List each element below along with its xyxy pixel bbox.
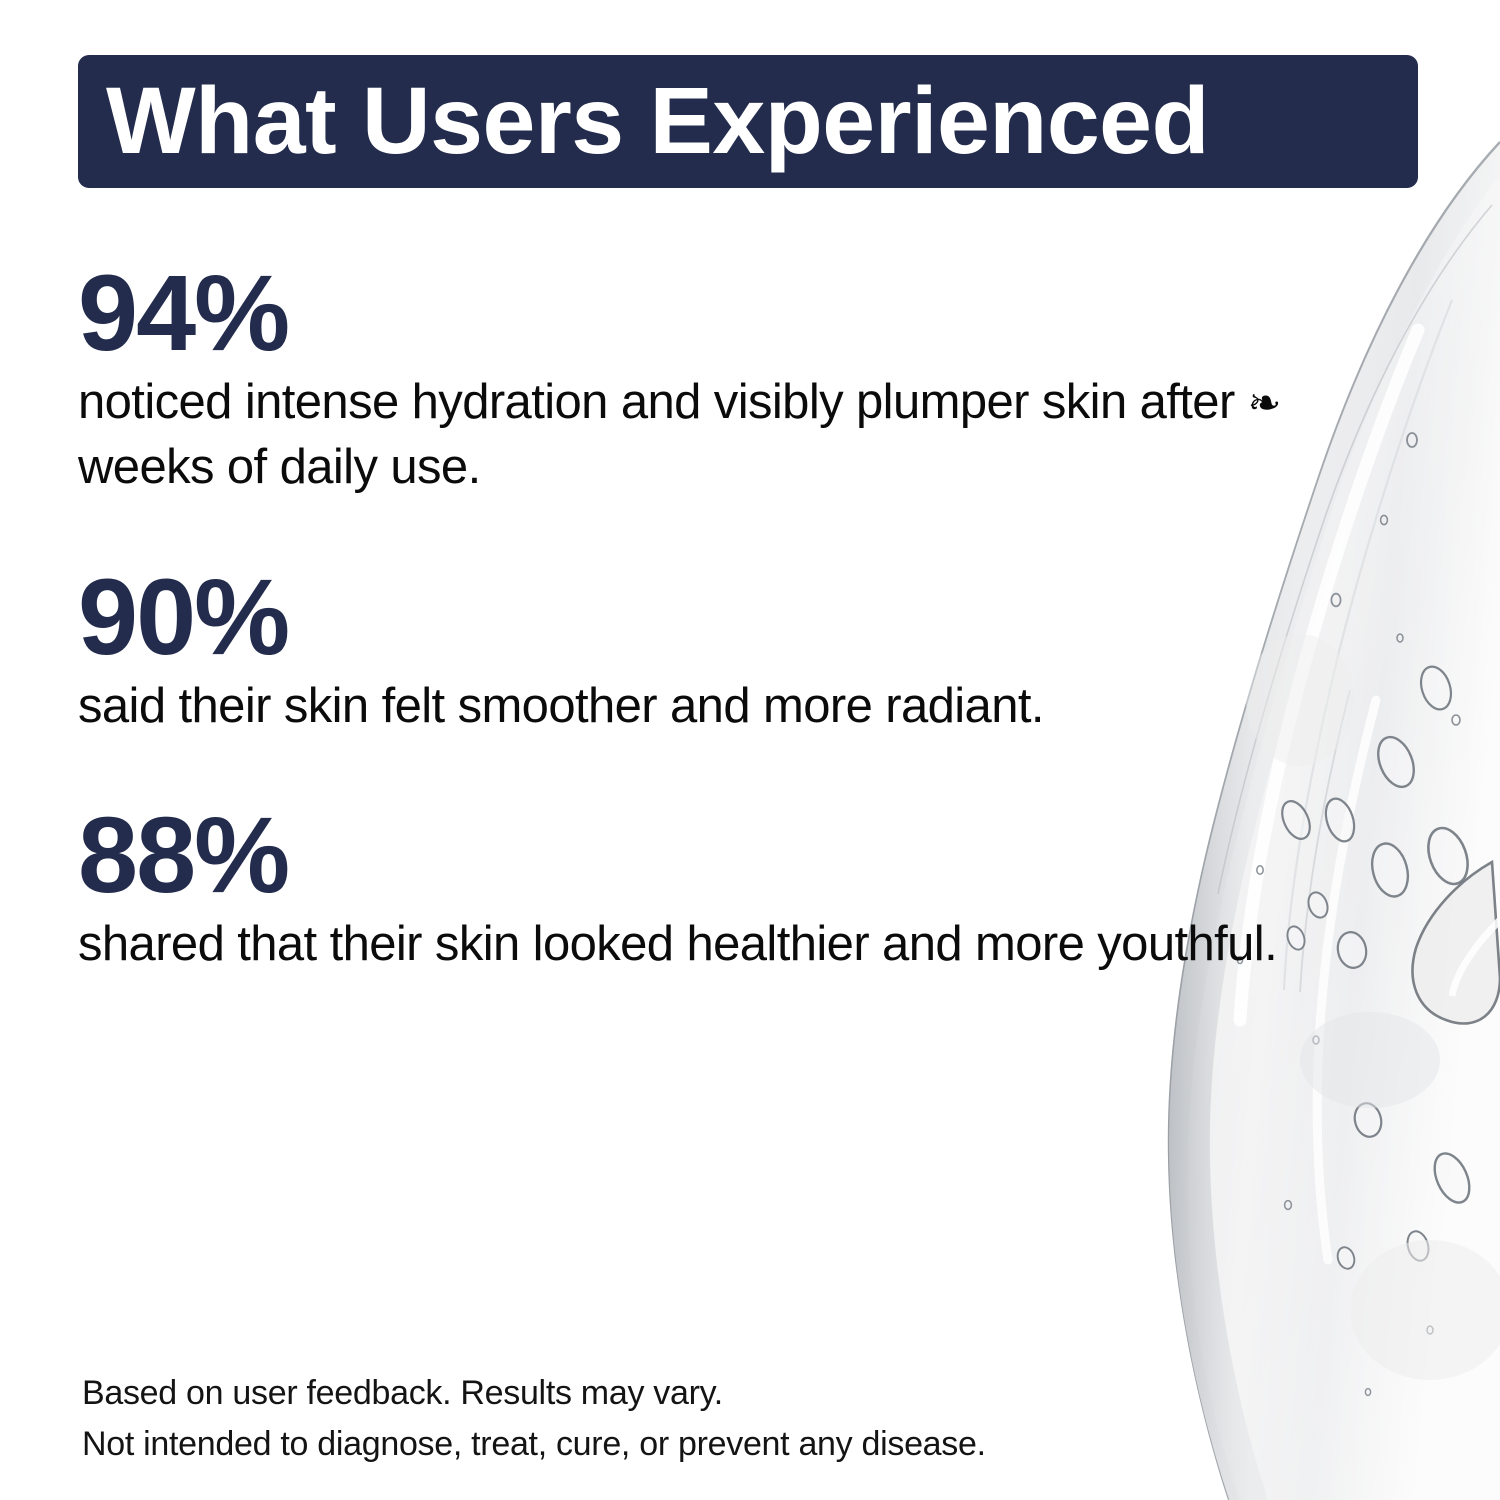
disclaimer: Based on user feedback. Results may vary… <box>82 1368 1282 1470</box>
stat-value: 88% <box>78 800 1318 910</box>
header-banner: What Users Experienced <box>78 55 1418 188</box>
stat-description: shared that their skin looked healthier … <box>78 912 1308 977</box>
stat-value: 90% <box>78 562 1318 672</box>
disclaimer-line-2: Not intended to diagnose, treat, cure, o… <box>82 1419 1282 1470</box>
stat-description-text-before: noticed intense hydration and visibly pl… <box>78 375 1248 429</box>
stat-block: 88% shared that their skin looked health… <box>78 800 1318 977</box>
stat-block: 94% noticed intense hydration and visibl… <box>78 258 1318 500</box>
stat-description-text-after: weeks of daily use. <box>78 440 481 494</box>
stat-value: 94% <box>78 258 1318 368</box>
disclaimer-line-1: Based on user feedback. Results may vary… <box>82 1368 1282 1419</box>
page-title: What Users Experienced <box>106 74 1209 169</box>
stat-description: said their skin felt smoother and more r… <box>78 674 1308 739</box>
stat-block: 90% said their skin felt smoother and mo… <box>78 562 1318 739</box>
stat-description: noticed intense hydration and visibly pl… <box>78 370 1308 499</box>
stats-list: 94% noticed intense hydration and visibl… <box>78 258 1318 977</box>
infographic-canvas: What Users Experienced 94% noticed inten… <box>0 0 1500 1500</box>
fleuron-ornament-icon: ❧ <box>1248 382 1282 426</box>
